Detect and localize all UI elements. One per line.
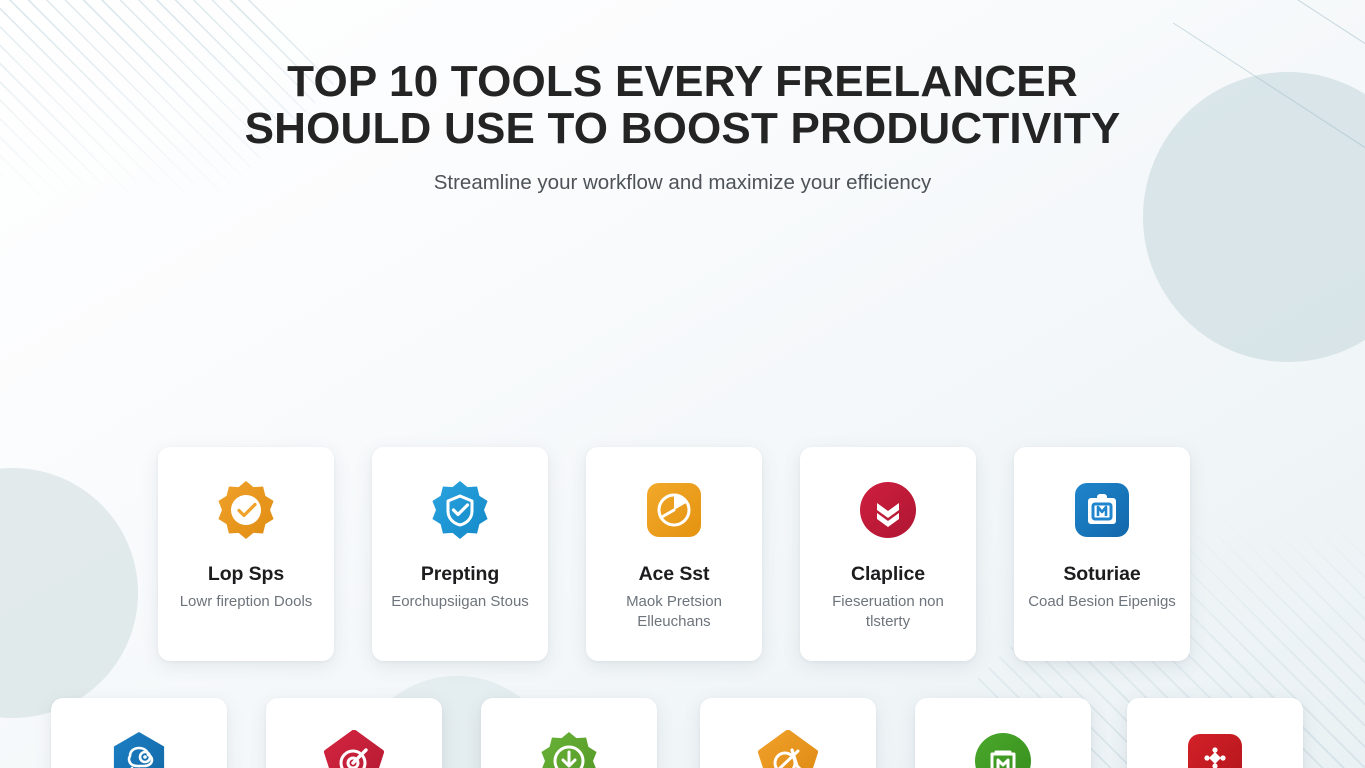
tool-card-title: Lop Sps <box>208 563 284 585</box>
wrench-tool-icon <box>757 730 819 768</box>
page-title-line-2: SHOULD USE TO BOOST PRODUCTIVITY <box>0 105 1365 152</box>
envelope-chevron-icon <box>857 479 919 541</box>
pie-clock-icon <box>643 479 705 541</box>
tool-card[interactable]: Lop SpsLowr fireption Dools <box>158 447 334 661</box>
tool-card-title: Soturiae <box>1063 563 1140 585</box>
tool-card[interactable]: ReantssLife Fromd you Plies <box>481 698 657 768</box>
infographic-page: TOP 10 TOOLS EVERY FREELANCER SHOULD USE… <box>0 0 1365 768</box>
page-subtitle: Streamline your workflow and maximize yo… <box>0 171 1365 195</box>
tool-card-description: Fieseruation non tlsterty <box>800 592 976 632</box>
gear-brain-icon <box>108 730 170 768</box>
page-header: TOP 10 TOOLS EVERY FREELANCER SHOULD USE… <box>0 0 1365 195</box>
page-title-line-1: TOP 10 TOOLS EVERY FREELANCER <box>0 58 1365 105</box>
document-diamond-icon <box>1184 730 1246 768</box>
shield-check-icon <box>429 479 491 541</box>
page-title: TOP 10 TOOLS EVERY FREELANCER SHOULD USE… <box>0 58 1365 152</box>
tool-card-description: Lowr fireption Dools <box>170 592 323 612</box>
tool-card-description: Eorchupsiigan Stous <box>381 592 539 612</box>
tool-card[interactable]: Ace SstMaok Pretsion Elleuchans <box>586 447 762 661</box>
leaf-download-icon <box>538 730 600 768</box>
tool-card[interactable]: MamtatioLock Selcure, Marles <box>51 698 227 768</box>
envelope-shield-icon <box>972 730 1034 768</box>
tool-card[interactable]: ClapliceFieseruation non tlsterty <box>800 447 976 661</box>
tool-card-title: Claplice <box>851 563 925 585</box>
tool-card-title: Ace Sst <box>639 563 710 585</box>
tool-card[interactable]: SoturiaeCoad Besion Eipenigs <box>1014 447 1190 661</box>
check-badge-icon <box>215 479 277 541</box>
tool-card[interactable]: CaplisAlewisand your Swioe <box>266 698 442 768</box>
clipboard-icon <box>1071 479 1133 541</box>
tool-card-description: Maok Pretsion Elleuchans <box>586 592 762 632</box>
tool-card-description: Coad Besion Eipenigs <box>1018 592 1186 612</box>
tool-card[interactable]: PreptingEorchupsiigan Stous <box>372 447 548 661</box>
tool-card[interactable]: SuplianMaterdent your Hoprrocations <box>700 698 876 768</box>
target-dart-icon <box>323 730 385 768</box>
tool-card-title: Prepting <box>421 563 499 585</box>
tool-card[interactable]: CrunigsExekorestly Pavent <box>1127 698 1303 768</box>
decorative-circle-left <box>0 468 138 718</box>
tool-card[interactable]: PletionSardieun intn Cortienst <box>915 698 1091 768</box>
